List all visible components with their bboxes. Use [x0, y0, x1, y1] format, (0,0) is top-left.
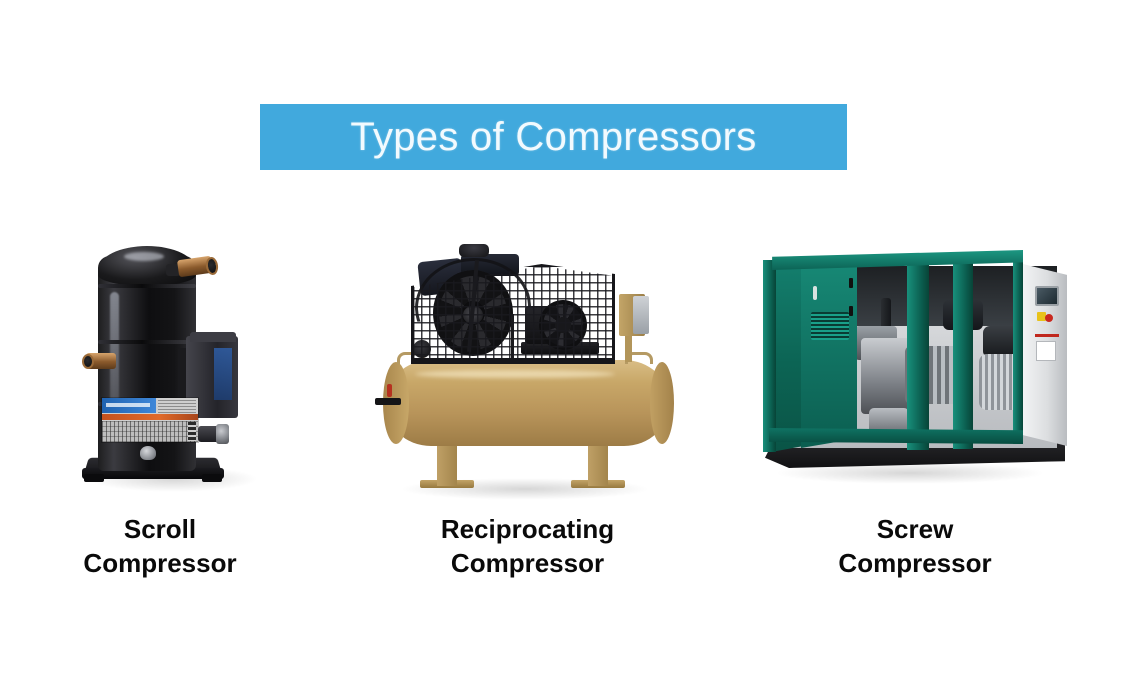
scroll-terminal-box-lid [190, 332, 236, 342]
screw-compressor-illustration [757, 242, 1073, 492]
recip-tank-highlight [415, 370, 615, 378]
recip-air-filter [459, 244, 489, 257]
page-title: Types of Compressors [350, 117, 756, 157]
compressor-card-screw: Screw Compressor [755, 240, 1075, 590]
recip-electrical-box-stem [625, 334, 632, 362]
recip-electrical-box-face [633, 296, 649, 334]
scroll-dome-highlight [124, 252, 164, 261]
scroll-suction-port [82, 354, 94, 369]
reciprocating-compressor-illustration [375, 244, 680, 494]
recip-drain-handle [387, 384, 392, 397]
caption-scroll: Scroll Compressor [30, 512, 290, 581]
screw-frame-post-c [953, 253, 973, 449]
reciprocating-compressor-figure [370, 240, 685, 495]
title-banner: Types of Compressors [260, 104, 847, 170]
scroll-compressor-illustration [80, 240, 265, 495]
caption-scroll-line1: Scroll [30, 512, 290, 546]
caption-reciprocating-line1: Reciprocating [370, 512, 685, 546]
screw-frame-post-a [763, 260, 776, 452]
recip-belt-guard-rail [411, 358, 615, 362]
scroll-weld-seam-mid [98, 340, 196, 344]
recip-leg-right [588, 440, 608, 486]
screw-cabinet-warning-stripe [1035, 334, 1059, 337]
recip-tank-end-right [650, 362, 674, 444]
screw-frame-bottom-rail [769, 428, 1023, 444]
scroll-weld-seam-top [98, 284, 196, 288]
scroll-side-port-cap [216, 424, 229, 444]
screw-door-latch-upper[interactable] [849, 278, 853, 288]
screw-compressor-figure [755, 240, 1075, 495]
recip-drain-valve [375, 398, 401, 405]
scroll-label-brand-band [102, 398, 156, 413]
caption-reciprocating: Reciprocating Compressor [370, 512, 685, 581]
caption-scroll-line2: Compressor [30, 546, 290, 580]
screw-ventilation-grille [811, 312, 849, 340]
scroll-label-barcode [188, 422, 196, 441]
screw-frame-post-d [1013, 252, 1023, 444]
screw-door-latch-lower[interactable] [849, 306, 853, 316]
screw-door-handle[interactable] [813, 286, 817, 300]
caption-screw-line1: Screw [755, 512, 1075, 546]
screw-cabinet-nameplate [1037, 342, 1055, 360]
scroll-foot-right [202, 474, 222, 482]
screw-frame-post-b [907, 254, 929, 450]
screw-emergency-stop-button[interactable] [1045, 314, 1053, 322]
recip-leg-left [437, 440, 457, 486]
compressor-card-reciprocating: Reciprocating Compressor [370, 240, 685, 590]
scroll-label-spec-text [158, 400, 196, 413]
scroll-label-warning-stripe [102, 414, 198, 420]
compressor-card-scroll: Scroll Compressor [30, 240, 290, 590]
caption-screw: Screw Compressor [755, 512, 1075, 581]
scroll-terminal-box-label [214, 348, 232, 400]
scroll-foot-left [84, 474, 104, 482]
scroll-product-label [102, 398, 198, 442]
caption-reciprocating-line2: Compressor [370, 546, 685, 580]
scroll-base-bolt [140, 446, 156, 460]
scroll-compressor-figure [30, 240, 290, 495]
screw-control-display-screen[interactable] [1035, 286, 1059, 306]
caption-screw-line2: Compressor [755, 546, 1075, 580]
scroll-label-data-table [102, 421, 198, 442]
